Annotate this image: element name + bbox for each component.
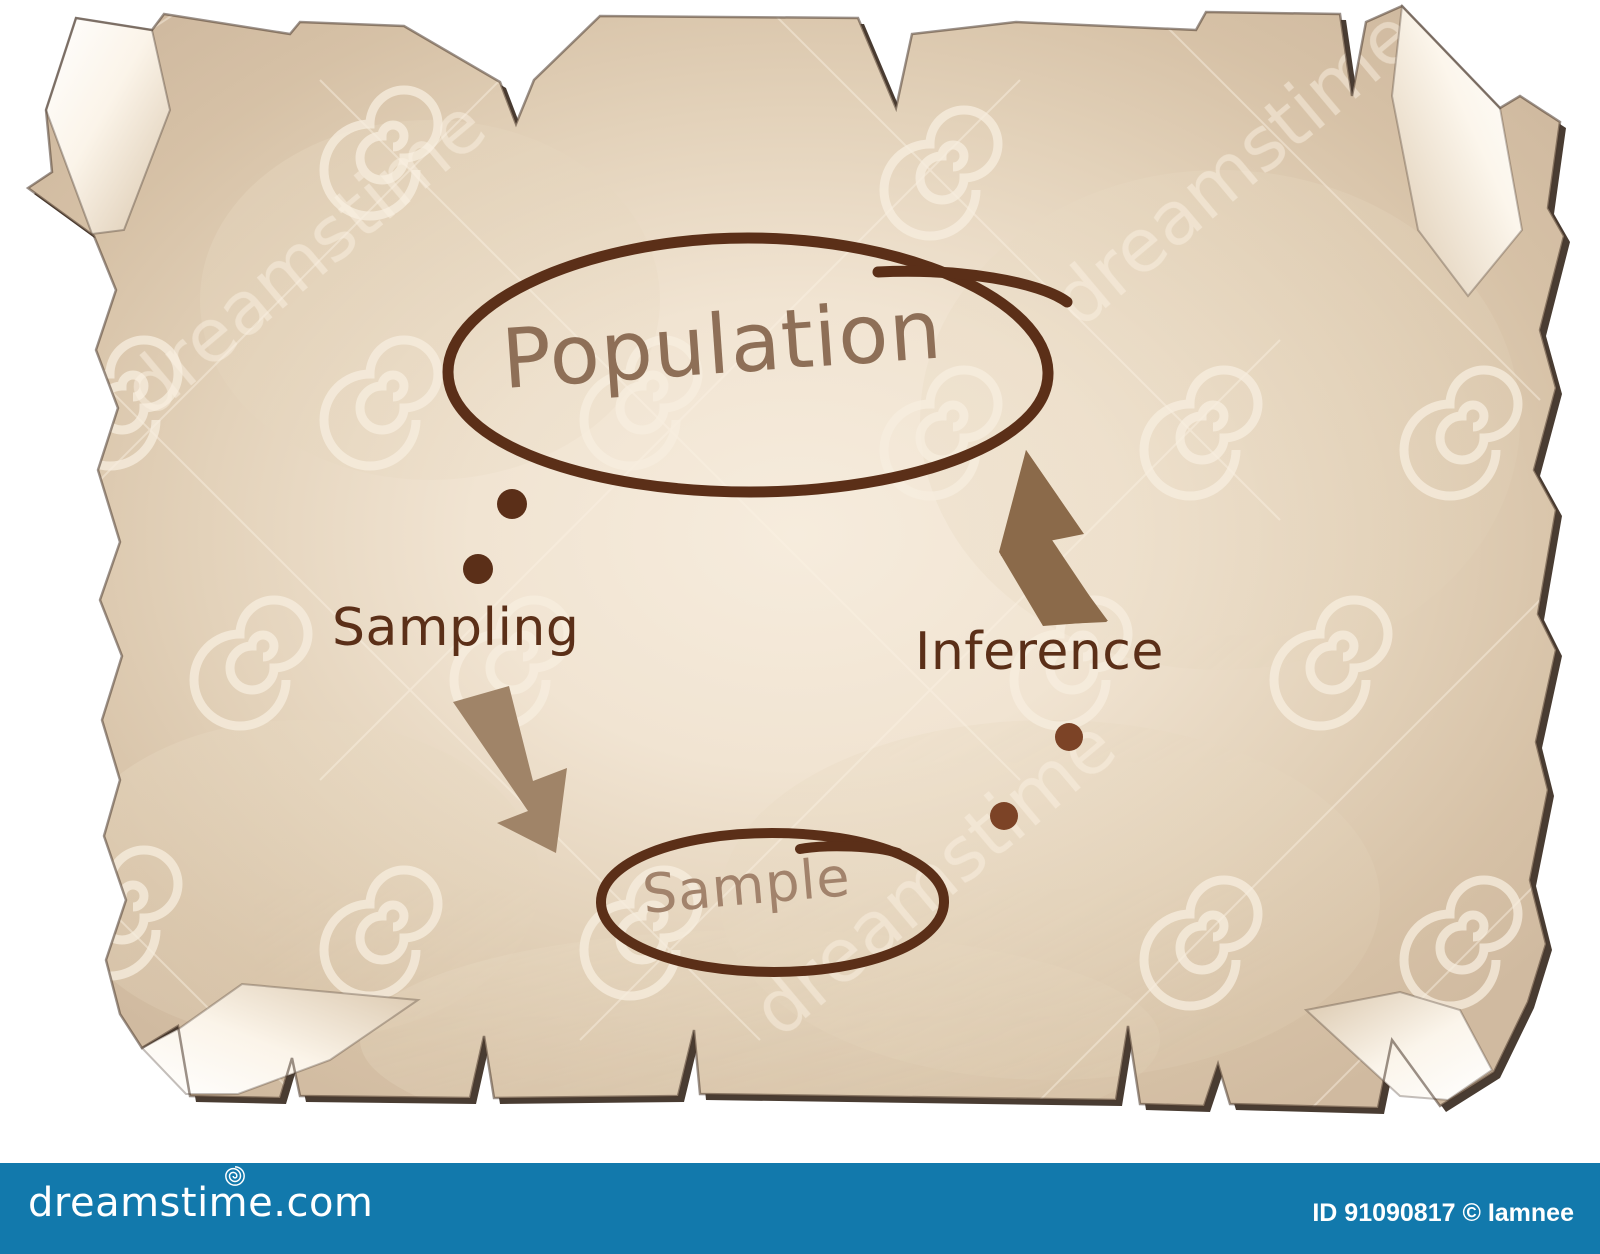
image-credit: ID 91090817 © Iamnee [1312,1199,1574,1228]
dreamstime-brand[interactable]: dreamstime.com [28,1183,373,1223]
brand-label: dreamstime.com [28,1183,373,1223]
paper-canvas: dreamstime dreamstime dreamstime [0,0,1600,1150]
screenshot-root: dreamstime dreamstime dreamstime [0,0,1600,1254]
torn-paper-illustration: dreamstime dreamstime dreamstime [0,0,1600,1150]
stock-photo-footer: dreamstime.com ID 91090817 © Iamnee [0,1163,1600,1254]
spiral-icon [224,1165,246,1187]
